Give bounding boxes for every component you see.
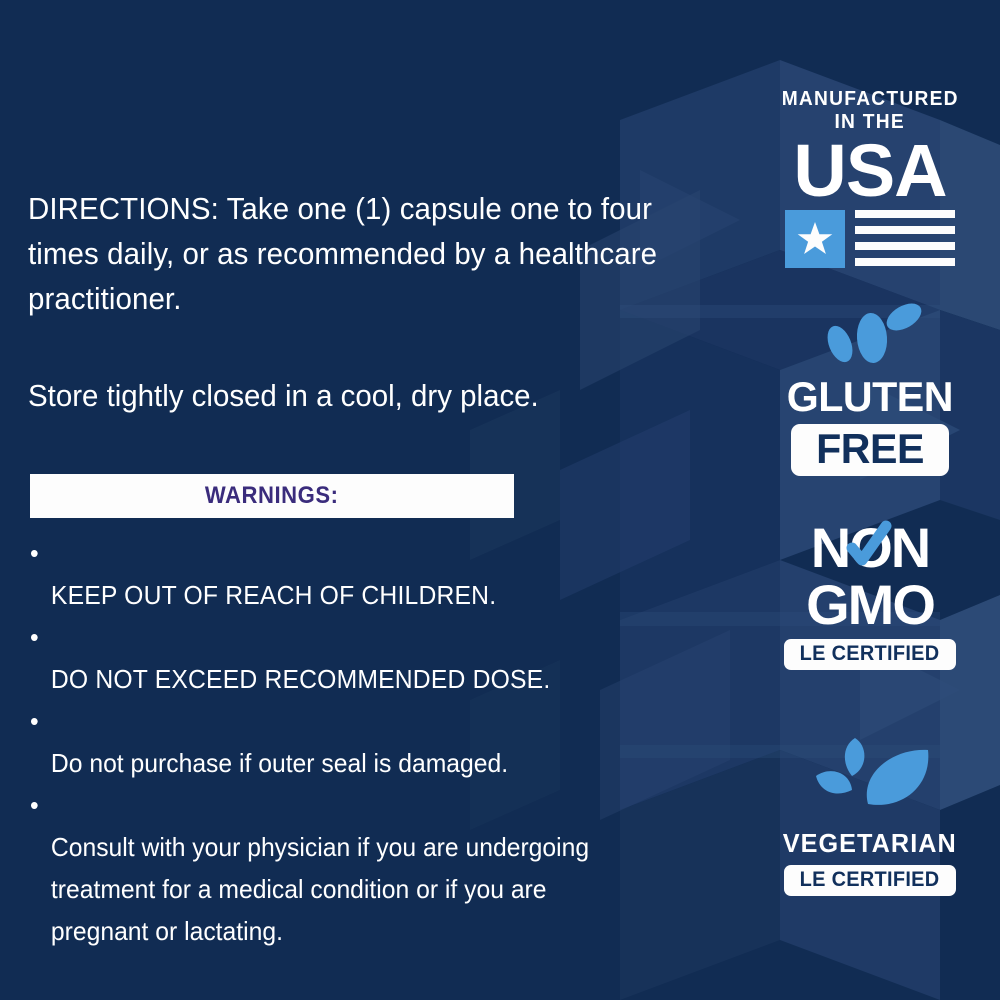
warnings-header-bar: WARNINGS: [30, 474, 514, 518]
list-item: •DO NOT EXCEED RECOMMENDED DOSE. [30, 616, 657, 700]
badge-usa-line1: MANUFACTURED [781, 88, 958, 110]
bullet-icon: • [30, 532, 39, 574]
badge-gluten-free: GLUTEN FREE [740, 300, 1000, 476]
directions-block: DIRECTIONS: Take one (1) capsule one to … [28, 186, 698, 418]
warnings-block: WARNINGS: •KEEP OUT OF REACH OF CHILDREN… [30, 474, 690, 952]
badge-gmo-word: GMO [806, 576, 934, 634]
badge-vegetarian-cert-text: LE CERTIFIED [800, 868, 940, 892]
leaf-icon [800, 730, 940, 821]
badge-free-box: FREE [791, 424, 949, 476]
bullet-icon: • [30, 616, 39, 658]
certification-badges: MANUFACTURED IN THE USA [740, 0, 1000, 1000]
storage-text: Store tightly closed in a cool, dry plac… [28, 373, 665, 418]
badge-non-row: NON [811, 520, 929, 576]
warning-text: DO NOT EXCEED RECOMMENDED DOSE. [51, 664, 550, 694]
wheat-grain-icon [810, 300, 930, 371]
badge-gmo-cert-box: LE CERTIFIED [784, 639, 955, 670]
directions-text: DIRECTIONS: Take one (1) capsule one to … [28, 186, 665, 321]
badge-vegetarian-label: VEGETARIAN [783, 829, 957, 857]
us-flag-icon [785, 210, 955, 273]
warnings-list: •KEEP OUT OF REACH OF CHILDREN. •DO NOT … [30, 532, 690, 952]
warnings-title: WARNINGS: [205, 482, 339, 510]
badge-usa-word: USA [793, 136, 946, 206]
warning-text: Consult with your physician if you are u… [51, 832, 589, 946]
list-item: •Consult with your physician if you are … [30, 784, 657, 952]
supplement-label-panel: DIRECTIONS: Take one (1) capsule one to … [0, 0, 1000, 1000]
badge-manufactured-in-usa: MANUFACTURED IN THE USA [740, 88, 1000, 273]
warning-text: Do not purchase if outer seal is damaged… [51, 748, 508, 778]
bullet-icon: • [30, 784, 39, 826]
badge-non-gmo: NON GMO LE CERTIFIED [740, 520, 1000, 670]
badge-gluten-word: GLUTEN [787, 375, 953, 419]
warning-text: KEEP OUT OF REACH OF CHILDREN. [51, 580, 496, 610]
badge-vegetarian: VEGETARIAN LE CERTIFIED [740, 730, 1000, 896]
bullet-icon: • [30, 700, 39, 742]
badge-free-word: FREE [816, 427, 924, 471]
list-item: •KEEP OUT OF REACH OF CHILDREN. [30, 532, 657, 616]
badge-gmo-cert-text: LE CERTIFIED [800, 642, 940, 666]
badge-non-word: NON [811, 520, 929, 576]
badge-vegetarian-cert-box: LE CERTIFIED [784, 865, 955, 896]
list-item: •Do not purchase if outer seal is damage… [30, 700, 657, 784]
